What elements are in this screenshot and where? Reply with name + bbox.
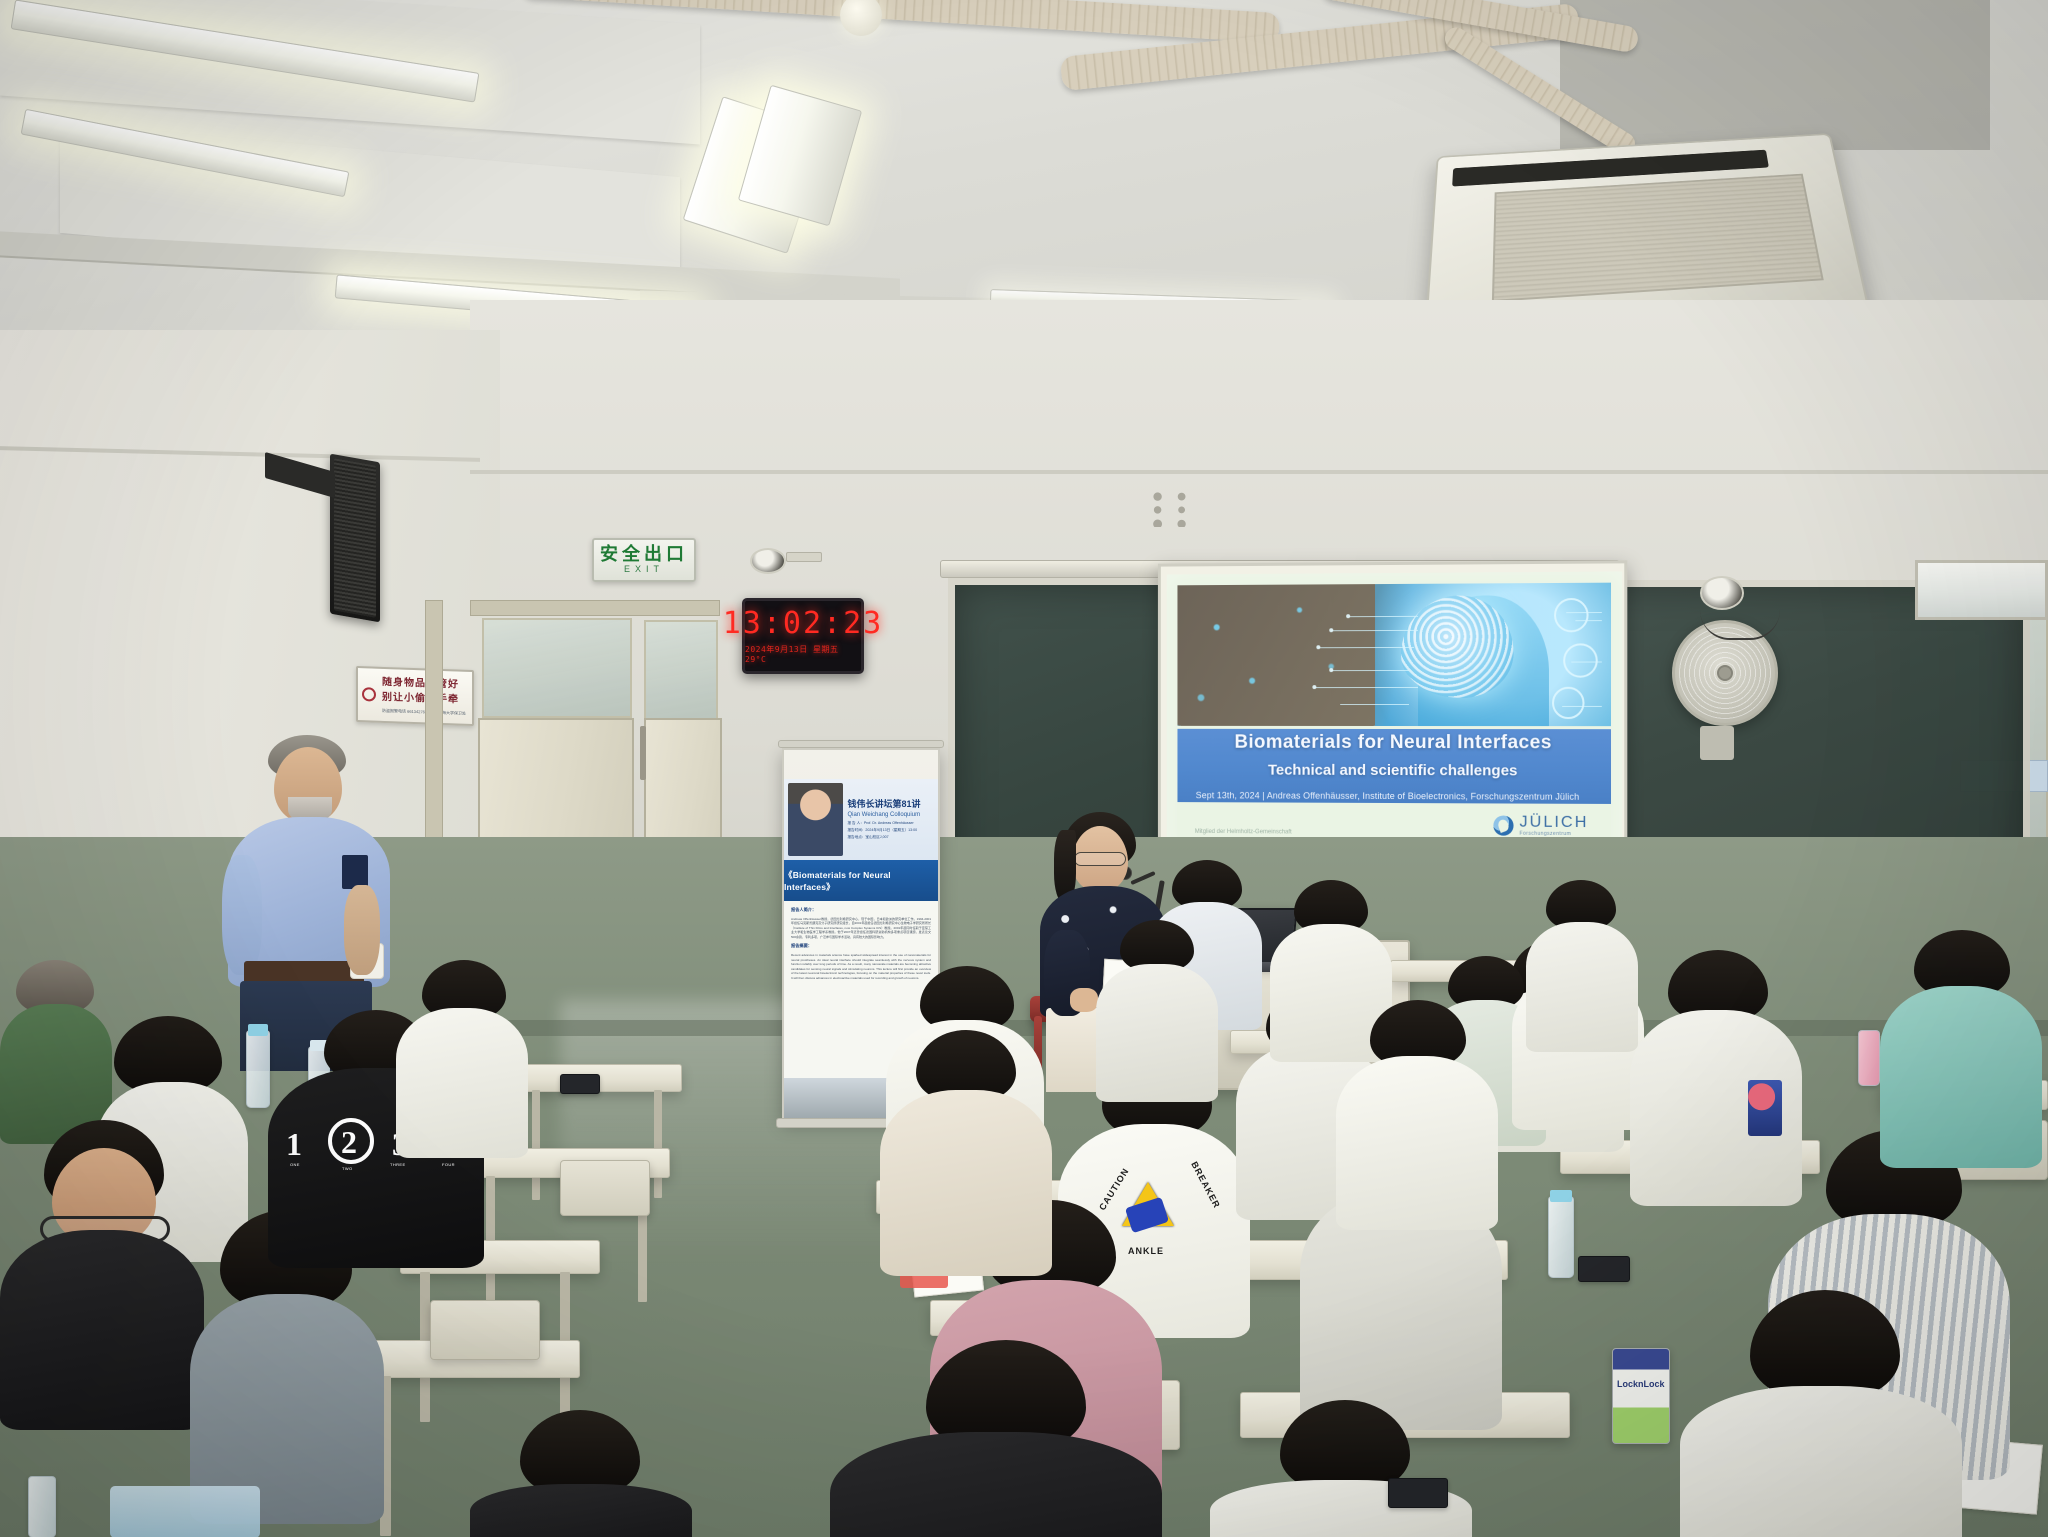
upper-window bbox=[1915, 560, 2048, 620]
phone-on-desk[interactable] bbox=[560, 1074, 600, 1094]
tee-label-1: ONE bbox=[290, 1162, 300, 1167]
banner-heading-cn: 钱伟长讲坛第81讲 bbox=[847, 800, 934, 810]
banner-bio-title: 报告人简介： bbox=[791, 907, 931, 913]
dome-security-camera bbox=[750, 548, 786, 574]
juelich-wordmark: JÜLICH bbox=[1520, 814, 1589, 830]
wall-trim bbox=[470, 470, 2048, 474]
audience-member bbox=[1680, 1290, 1960, 1537]
banner-top-bar bbox=[778, 740, 944, 748]
slide-title-band: Biomaterials for Neural Interfaces Techn… bbox=[1178, 729, 1611, 804]
neuron-network-graphic bbox=[1178, 584, 1375, 726]
audience-member bbox=[1526, 880, 1636, 1040]
man-right-forearm bbox=[344, 885, 380, 975]
banner-header: 钱伟长讲坛第81讲 Qian Weichang Colloquium 报 告 人… bbox=[784, 779, 938, 860]
juelich-mark-icon bbox=[1493, 815, 1513, 835]
camera-bracket bbox=[786, 552, 822, 562]
banner-place-line: 报告地点：宝山校区J,007 bbox=[847, 835, 934, 840]
banner-time-line: 报告时间：2024年9月13日（星期五）13:00 bbox=[847, 828, 934, 833]
audience-member bbox=[0, 1120, 200, 1420]
wall-digital-clock: 13:02:23 2024年9月13日 星期五 29°C bbox=[742, 598, 864, 674]
audience-member bbox=[470, 1410, 690, 1537]
banner-topic: 《Biomaterials for Neural Interfaces》 bbox=[784, 869, 938, 893]
exit-sign-english: EXIT bbox=[624, 563, 664, 576]
chair[interactable] bbox=[560, 1160, 650, 1216]
shirt-pocket-item bbox=[342, 855, 368, 889]
slide-icon-hand bbox=[1554, 597, 1589, 631]
tee-number-2: 2 bbox=[341, 1124, 357, 1161]
notice-seal-icon bbox=[362, 687, 376, 701]
bottle-cap bbox=[248, 1024, 268, 1036]
tee-label-2: TWO bbox=[342, 1166, 353, 1171]
audience-member bbox=[0, 960, 110, 1140]
slide-title: Biomaterials for Neural Interfaces bbox=[1196, 731, 1592, 754]
tee-breaker-text: BREAKER bbox=[1189, 1160, 1222, 1210]
tee-label-4: FOUR bbox=[442, 1162, 455, 1167]
tee-label-3: THREE bbox=[390, 1162, 406, 1167]
speaker-portrait bbox=[788, 783, 843, 856]
security-notice-sign: 随身物品保管好 别让小偷顺手牵 防盗报警电话 66134276 上海大学保卫处 bbox=[356, 666, 474, 726]
clock-date: 2024年9月13日 星期五 29°C bbox=[745, 644, 861, 664]
door-transom-glass bbox=[644, 620, 718, 720]
slide-icon-limb bbox=[1552, 686, 1585, 718]
ceiling-structure bbox=[1560, 0, 1990, 150]
chair[interactable] bbox=[430, 1300, 540, 1360]
lecture-hall-photo: 安全出口 EXIT 13:02:23 2024年9月13日 星期五 29°C 随… bbox=[0, 0, 2048, 1537]
audience-member bbox=[1210, 1400, 1470, 1537]
tee-number-1: 1 bbox=[286, 1126, 302, 1163]
phone-on-desk[interactable] bbox=[1578, 1256, 1630, 1282]
exit-sign-chinese: 安全出口 bbox=[600, 545, 688, 563]
bottle-cap bbox=[1550, 1190, 1572, 1202]
wall-speaker bbox=[330, 454, 380, 623]
brain-graphic bbox=[1401, 595, 1514, 698]
locknlock-tumbler: LocknLock bbox=[1612, 1348, 1670, 1444]
exit-sign: 安全出口 EXIT bbox=[592, 538, 696, 582]
notice-line-2: 别让小偷顺手牵 bbox=[382, 690, 466, 707]
water-bottle bbox=[1548, 1196, 1574, 1278]
tee-print bbox=[1748, 1080, 1782, 1136]
door-transom-glass bbox=[482, 618, 632, 718]
presenter-hand bbox=[1070, 988, 1098, 1012]
slide-subtitle: Technical and scientific challenges bbox=[1196, 761, 1592, 779]
juelich-logo: JÜLICH Forschungszentrum bbox=[1493, 814, 1588, 837]
water-bottle bbox=[28, 1476, 56, 1537]
door-latch[interactable] bbox=[640, 726, 646, 780]
audience-member bbox=[1096, 920, 1216, 1090]
projection-screen: Biomaterials for Neural Interfaces Techn… bbox=[1158, 560, 1627, 863]
audience-member bbox=[880, 1030, 1050, 1260]
water-bottle bbox=[246, 1030, 270, 1108]
phone-on-desk[interactable] bbox=[1388, 1478, 1448, 1508]
presenter-glasses bbox=[1074, 852, 1126, 866]
banner-speaker-line: 报 告 人：Prof. Dr. Andreas Offenhäusser bbox=[847, 821, 934, 826]
slide-credit-line: Sept 13th, 2024 | Andreas Offenhäusser, … bbox=[1196, 790, 1592, 802]
notice-phone: 防盗报警电话 66134276 bbox=[382, 708, 425, 715]
banner-heading-en: Qian Weichang Colloquium bbox=[847, 812, 934, 819]
desk-leg bbox=[654, 1090, 662, 1198]
dome-security-camera bbox=[1700, 576, 1744, 610]
juelich-subtext: Forschungszentrum bbox=[1520, 830, 1589, 836]
wall-mount-holes bbox=[1148, 489, 1196, 527]
banner-abstract-title: 报告摘要： bbox=[791, 943, 931, 949]
slide-icon-eye bbox=[1563, 643, 1598, 677]
clock-time: 13:02:23 bbox=[723, 609, 884, 639]
plastic-bag bbox=[110, 1486, 260, 1537]
tumbler-brand-label: LocknLock bbox=[1617, 1379, 1665, 1389]
audience-member bbox=[396, 960, 526, 1150]
fan-motor-housing bbox=[1700, 726, 1734, 760]
man-left-arm bbox=[222, 855, 262, 975]
door-header bbox=[470, 600, 720, 616]
slide-footer-note: Mitglied der Helmholtz-Gemeinschaft bbox=[1195, 828, 1292, 835]
banner-topic-band: 《Biomaterials for Neural Interfaces》 bbox=[784, 860, 938, 900]
audience-member bbox=[1880, 930, 2040, 1160]
desk-leg bbox=[532, 1090, 540, 1200]
drink-cup bbox=[1858, 1030, 1880, 1086]
slide-hero-image bbox=[1178, 583, 1611, 726]
audience-member bbox=[1336, 1000, 1496, 1220]
audience-member bbox=[830, 1340, 1160, 1537]
presentation-slide: Biomaterials for Neural Interfaces Techn… bbox=[1167, 571, 1623, 858]
banner-bio-text: Andreas Offenhäusser教授，德国尤利希研究中心，现于中国，日本… bbox=[791, 917, 931, 940]
